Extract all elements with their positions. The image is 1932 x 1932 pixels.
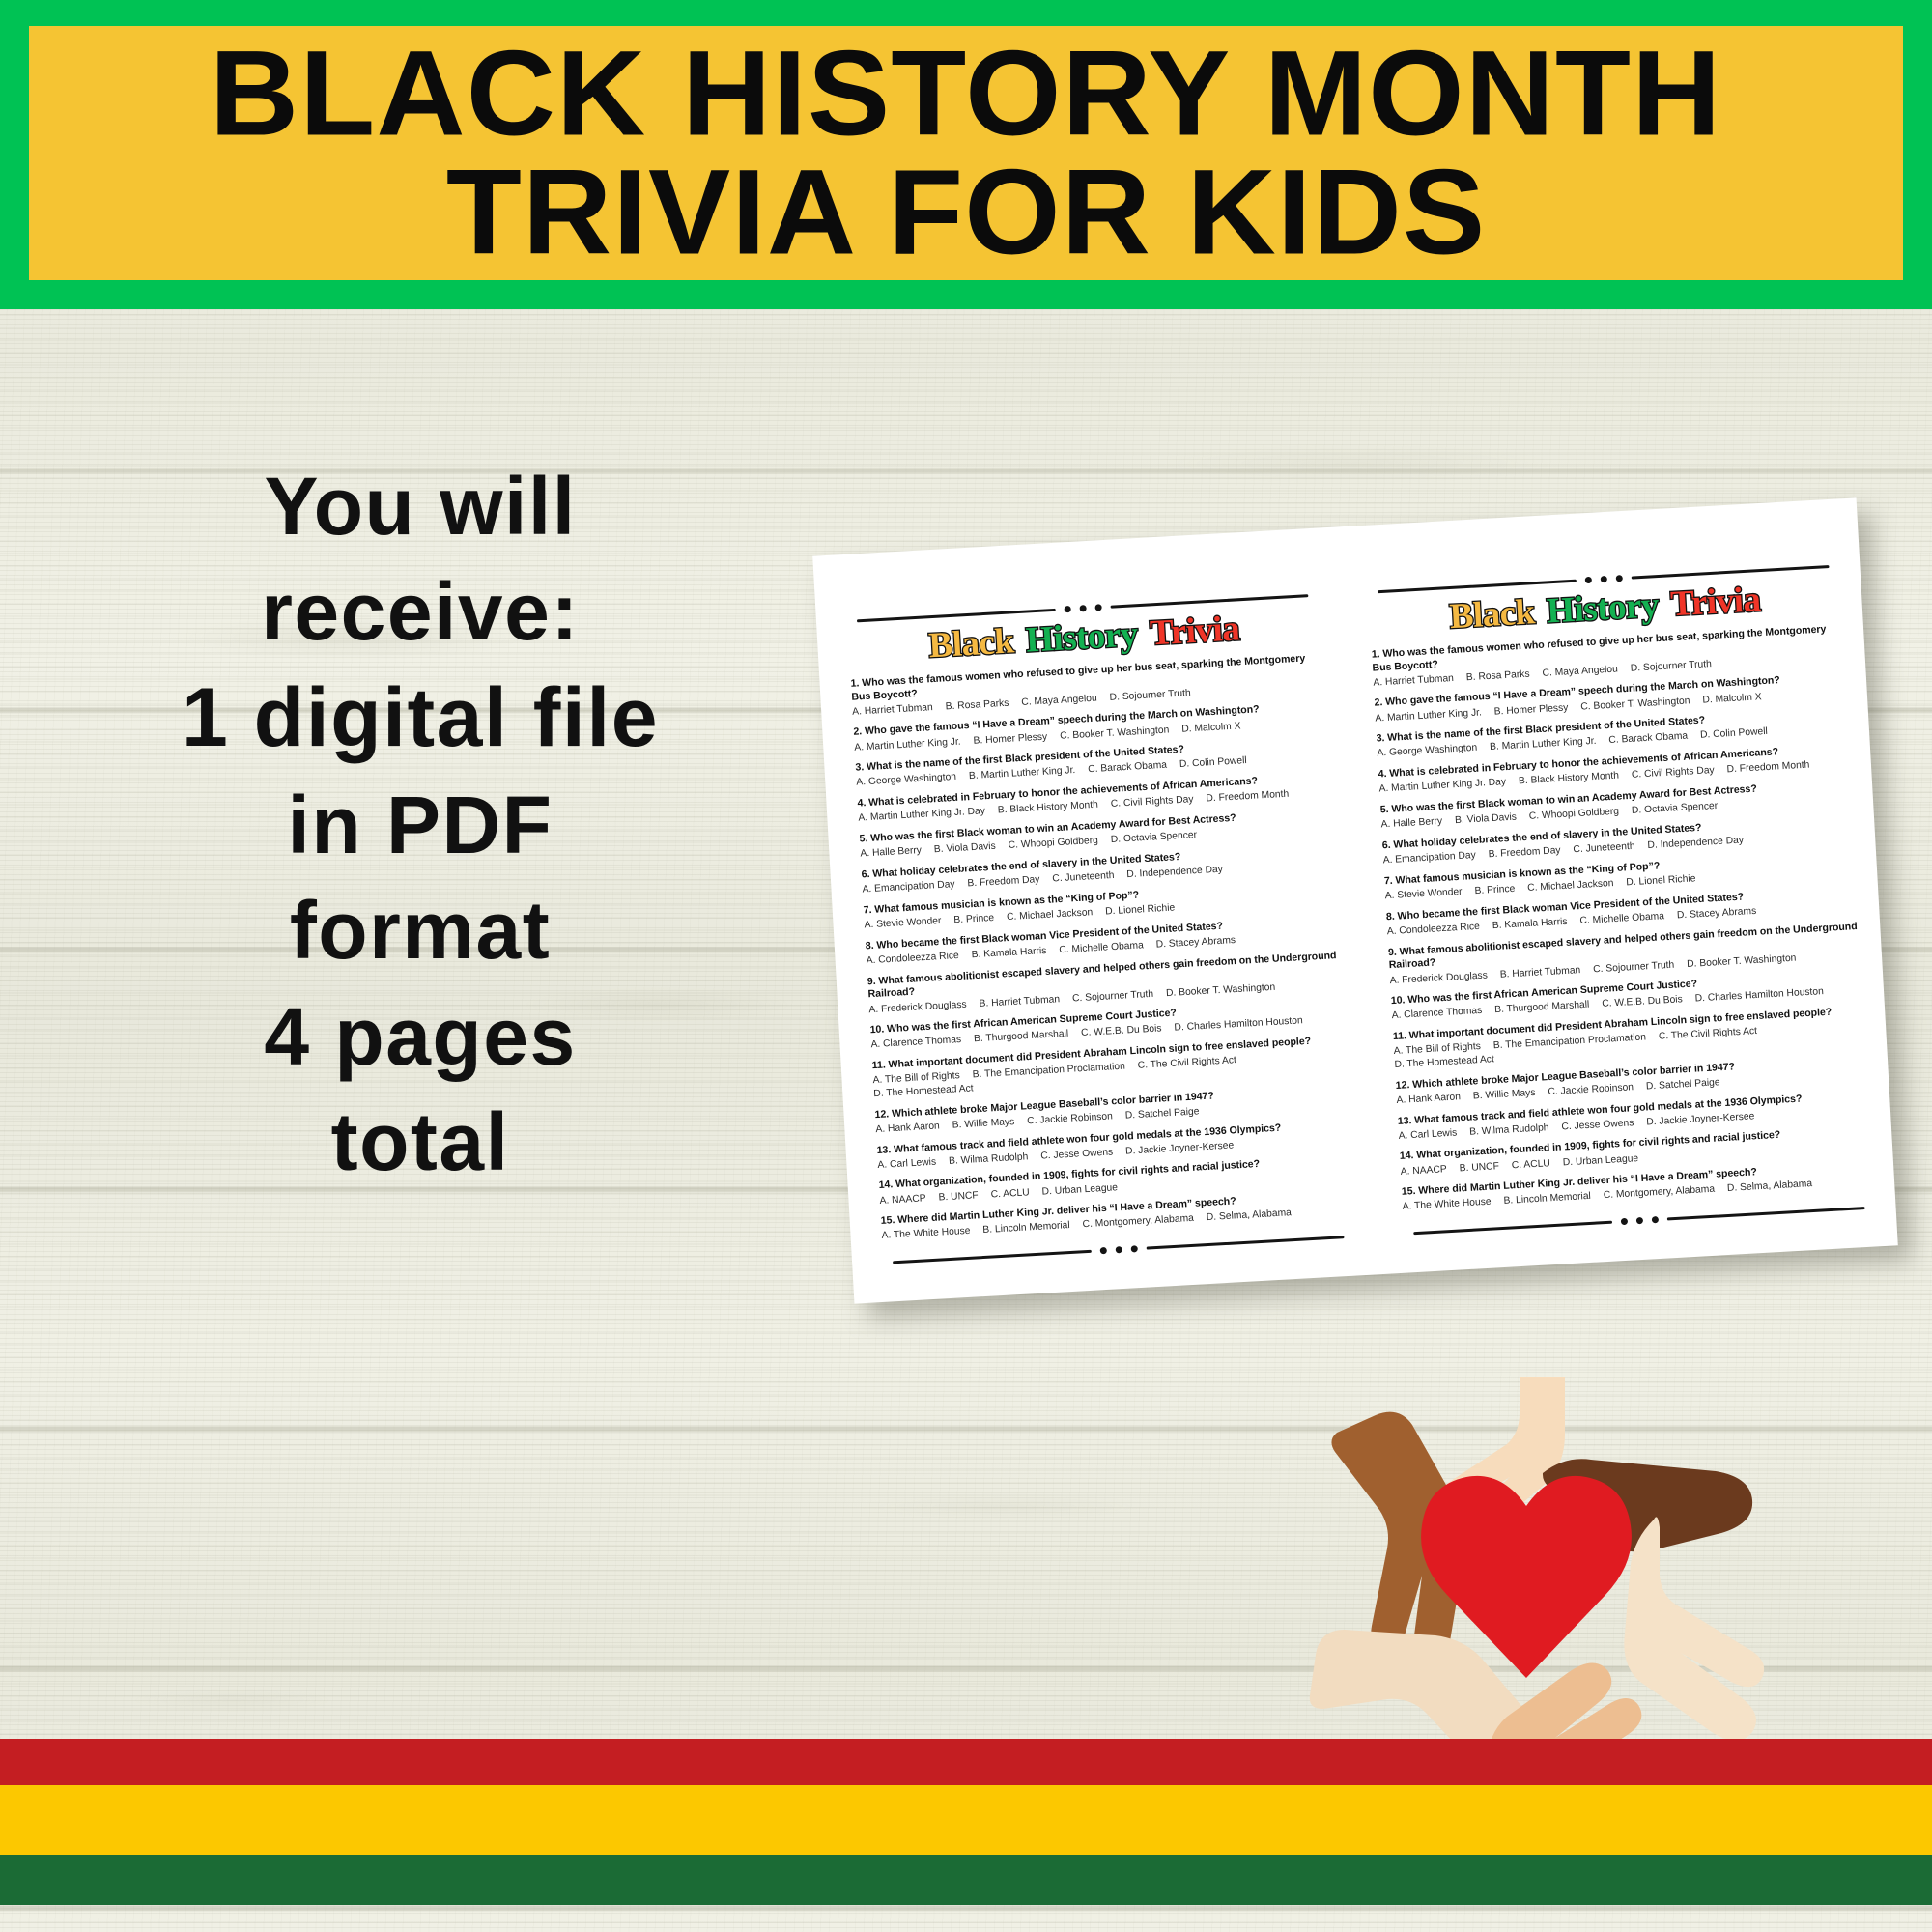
divider-rule-left bbox=[1413, 1221, 1611, 1235]
promo-line-7: total bbox=[92, 1090, 749, 1195]
divider-rule-right bbox=[1146, 1236, 1344, 1249]
question-option: D. Satchel Paige bbox=[1124, 1105, 1199, 1122]
header-title-line-2: Trivia for Kids bbox=[446, 156, 1486, 269]
divider-rule-left bbox=[893, 1250, 1091, 1264]
question-option: D. Lionel Richie bbox=[1105, 902, 1176, 919]
question-option: B. Freedom Day bbox=[967, 873, 1040, 891]
question-option: D. Urban League bbox=[1562, 1152, 1638, 1170]
question-option: B. Freedom Day bbox=[1488, 844, 1561, 862]
question-option: B. UNCF bbox=[1459, 1160, 1499, 1176]
promo-line-4: in PDF bbox=[92, 773, 749, 878]
promo-line-6: 4 pages bbox=[92, 984, 749, 1090]
divider-dot bbox=[1584, 576, 1591, 582]
worksheet-title-word-history: History bbox=[1023, 616, 1141, 659]
question-option: C. Civil Rights Day bbox=[1110, 794, 1193, 811]
question-option: D. Colin Powell bbox=[1179, 754, 1247, 771]
question-option: C. Maya Angelou bbox=[1021, 692, 1097, 709]
question-option: C. Sojourner Truth bbox=[1593, 958, 1675, 976]
question-option: D. Malcolm X bbox=[1181, 720, 1241, 736]
question-option: A. Harriet Tubman bbox=[852, 701, 933, 719]
question-option: C. Michelle Obama bbox=[1059, 939, 1144, 956]
divider-dot bbox=[1620, 1218, 1627, 1225]
question-option: D. Sojourner Truth bbox=[1630, 658, 1712, 675]
question-option: C. Civil Rights Day bbox=[1632, 764, 1715, 781]
header-banner-inner: Black History Month Trivia for Kids bbox=[29, 26, 1903, 280]
question-option: D. Satchel Paige bbox=[1646, 1076, 1720, 1094]
worksheet-title-word-black: Black bbox=[1447, 594, 1538, 635]
paper-sheet: Black History Trivia1. Who was the famou… bbox=[812, 497, 1898, 1303]
question-option: B. Viola Davis bbox=[934, 840, 997, 857]
question-option: D. Sojourner Truth bbox=[1109, 687, 1191, 704]
divider-dot bbox=[1651, 1216, 1658, 1223]
bottom-stripe-green bbox=[0, 1855, 1932, 1905]
question-option: A. Halle Berry bbox=[860, 844, 922, 861]
question-option: D. Lionel Richie bbox=[1626, 872, 1696, 889]
question-option: A. Stevie Wonder bbox=[864, 915, 942, 932]
question-option: B. Homer Plessy bbox=[1493, 701, 1568, 719]
promo-line-2: receive: bbox=[92, 559, 749, 665]
question-option: C. Jesse Owens bbox=[1561, 1117, 1634, 1134]
question-option: C. Michael Jackson bbox=[1007, 906, 1094, 923]
question-option: A. Halle Berry bbox=[1380, 815, 1442, 832]
divider-rule-right bbox=[1110, 594, 1308, 608]
question-option: B. Homer Plessy bbox=[973, 730, 1047, 748]
question-option: A. Hank Aaron bbox=[875, 1120, 940, 1136]
divider-rule-right bbox=[1631, 565, 1829, 579]
question-option: B. Prince bbox=[1474, 883, 1515, 898]
question-option: C. Barack Obama bbox=[1608, 730, 1688, 748]
promo-line-5: format bbox=[92, 878, 749, 983]
promo-line-3: 1 digital file bbox=[92, 665, 749, 773]
question-option: C. Jackie Robinson bbox=[1548, 1081, 1634, 1098]
divider-dot bbox=[1635, 1217, 1642, 1224]
question-option: A. Hank Aaron bbox=[1396, 1091, 1461, 1107]
question-option: B. UNCF bbox=[938, 1189, 979, 1205]
question-option: B. Harriet Tubman bbox=[979, 993, 1060, 1010]
worksheet-title-word-trivia: Trivia bbox=[1667, 582, 1763, 622]
question-option: C. Michael Jackson bbox=[1527, 877, 1614, 895]
promo-text-block: You will receive: 1 digital file in PDF … bbox=[92, 454, 749, 1195]
question-option: A. NAACP bbox=[1400, 1163, 1447, 1179]
question-option: D. Freedom Month bbox=[1726, 759, 1809, 777]
question-option: D. Selma, Alabama bbox=[1727, 1178, 1813, 1195]
worksheet-page-right: Black History Trivia1. Who was the famou… bbox=[1339, 497, 1901, 1274]
question-option: B. Rosa Parks bbox=[945, 696, 1009, 713]
header-title-line-1: Black History Month bbox=[210, 38, 1722, 151]
question-option: C. Maya Angelou bbox=[1542, 663, 1618, 680]
divider-dot bbox=[1115, 1246, 1122, 1253]
question-option: A. Harriet Tubman bbox=[1373, 672, 1454, 690]
divider-dot bbox=[1079, 605, 1086, 611]
question-option: C. Juneteenth bbox=[1573, 840, 1635, 857]
question-option: A. Carl Lewis bbox=[877, 1155, 936, 1172]
header-banner: Black History Month Trivia for Kids bbox=[0, 0, 1932, 309]
worksheet-title-word-black: Black bbox=[926, 623, 1017, 664]
question-option: B. Wilma Rudolph bbox=[1469, 1122, 1549, 1139]
divider-dot bbox=[1130, 1245, 1137, 1252]
question-option: C. Sojourner Truth bbox=[1072, 987, 1154, 1005]
question-option: A. Carl Lewis bbox=[1398, 1126, 1457, 1143]
bottom-stripe-red bbox=[0, 1739, 1932, 1785]
bottom-stripe-yellow bbox=[0, 1785, 1932, 1855]
divider-rule-right bbox=[1666, 1207, 1864, 1220]
question-option: D. Octavia Spencer bbox=[1110, 829, 1197, 846]
question-option: C. Barack Obama bbox=[1088, 759, 1167, 777]
question-option: B. Rosa Parks bbox=[1465, 668, 1529, 684]
question-option: B. Prince bbox=[953, 912, 994, 927]
question-option: C. ACLU bbox=[1511, 1157, 1550, 1173]
question-option: B. Kamala Harris bbox=[1492, 916, 1567, 933]
divider-dot bbox=[1064, 605, 1070, 611]
promo-line-1: You will bbox=[92, 454, 749, 559]
question-option: D. Colin Powell bbox=[1700, 725, 1768, 742]
question-option: B. Harriet Tubman bbox=[1499, 964, 1580, 981]
worksheet-paper-mockup: Black History Trivia1. Who was the famou… bbox=[812, 497, 1898, 1303]
question-option: C. Michelle Obama bbox=[1579, 910, 1664, 927]
divider-dot bbox=[1600, 575, 1606, 582]
worksheet-title-word-trivia: Trivia bbox=[1147, 611, 1242, 651]
question-option: D. Selma, Alabama bbox=[1207, 1207, 1293, 1225]
question-option: D. Malcolm X bbox=[1702, 691, 1762, 707]
question-option: C. W.E.B. Du Bois bbox=[1081, 1023, 1162, 1040]
question-option: B. Viola Davis bbox=[1455, 811, 1518, 828]
hand-right-light bbox=[1624, 1517, 1764, 1741]
question-option: D. Urban League bbox=[1041, 1181, 1118, 1199]
worksheet-page-left: Black History Trivia1. Who was the famou… bbox=[818, 526, 1380, 1303]
question-option: C. Juneteenth bbox=[1052, 869, 1115, 886]
divider-dot bbox=[1099, 1247, 1106, 1254]
question-option: B. Wilma Rudolph bbox=[949, 1151, 1029, 1168]
question-option: C. Jesse Owens bbox=[1040, 1146, 1114, 1163]
question-option: C. Jackie Robinson bbox=[1027, 1110, 1113, 1127]
question-option: B. Willie Mays bbox=[1473, 1087, 1536, 1103]
question-option: B. Willie Mays bbox=[952, 1116, 1014, 1132]
question-option: B. Kamala Harris bbox=[971, 945, 1046, 962]
question-option: C. W.E.B. Du Bois bbox=[1602, 994, 1683, 1011]
question-option: C. ACLU bbox=[990, 1186, 1030, 1202]
question-option: D. Freedom Month bbox=[1206, 788, 1289, 806]
question-option: D. Stacey Abrams bbox=[1677, 905, 1757, 923]
question-option: A. NAACP bbox=[879, 1192, 926, 1207]
divider-dot bbox=[1094, 604, 1101, 611]
question-option: D. Octavia Spencer bbox=[1632, 800, 1719, 817]
question-option: D. Stacey Abrams bbox=[1155, 934, 1236, 952]
question-option: A. Stevie Wonder bbox=[1384, 886, 1463, 903]
worksheet-title-word-history: History bbox=[1544, 587, 1662, 630]
divider-dot bbox=[1615, 575, 1622, 582]
